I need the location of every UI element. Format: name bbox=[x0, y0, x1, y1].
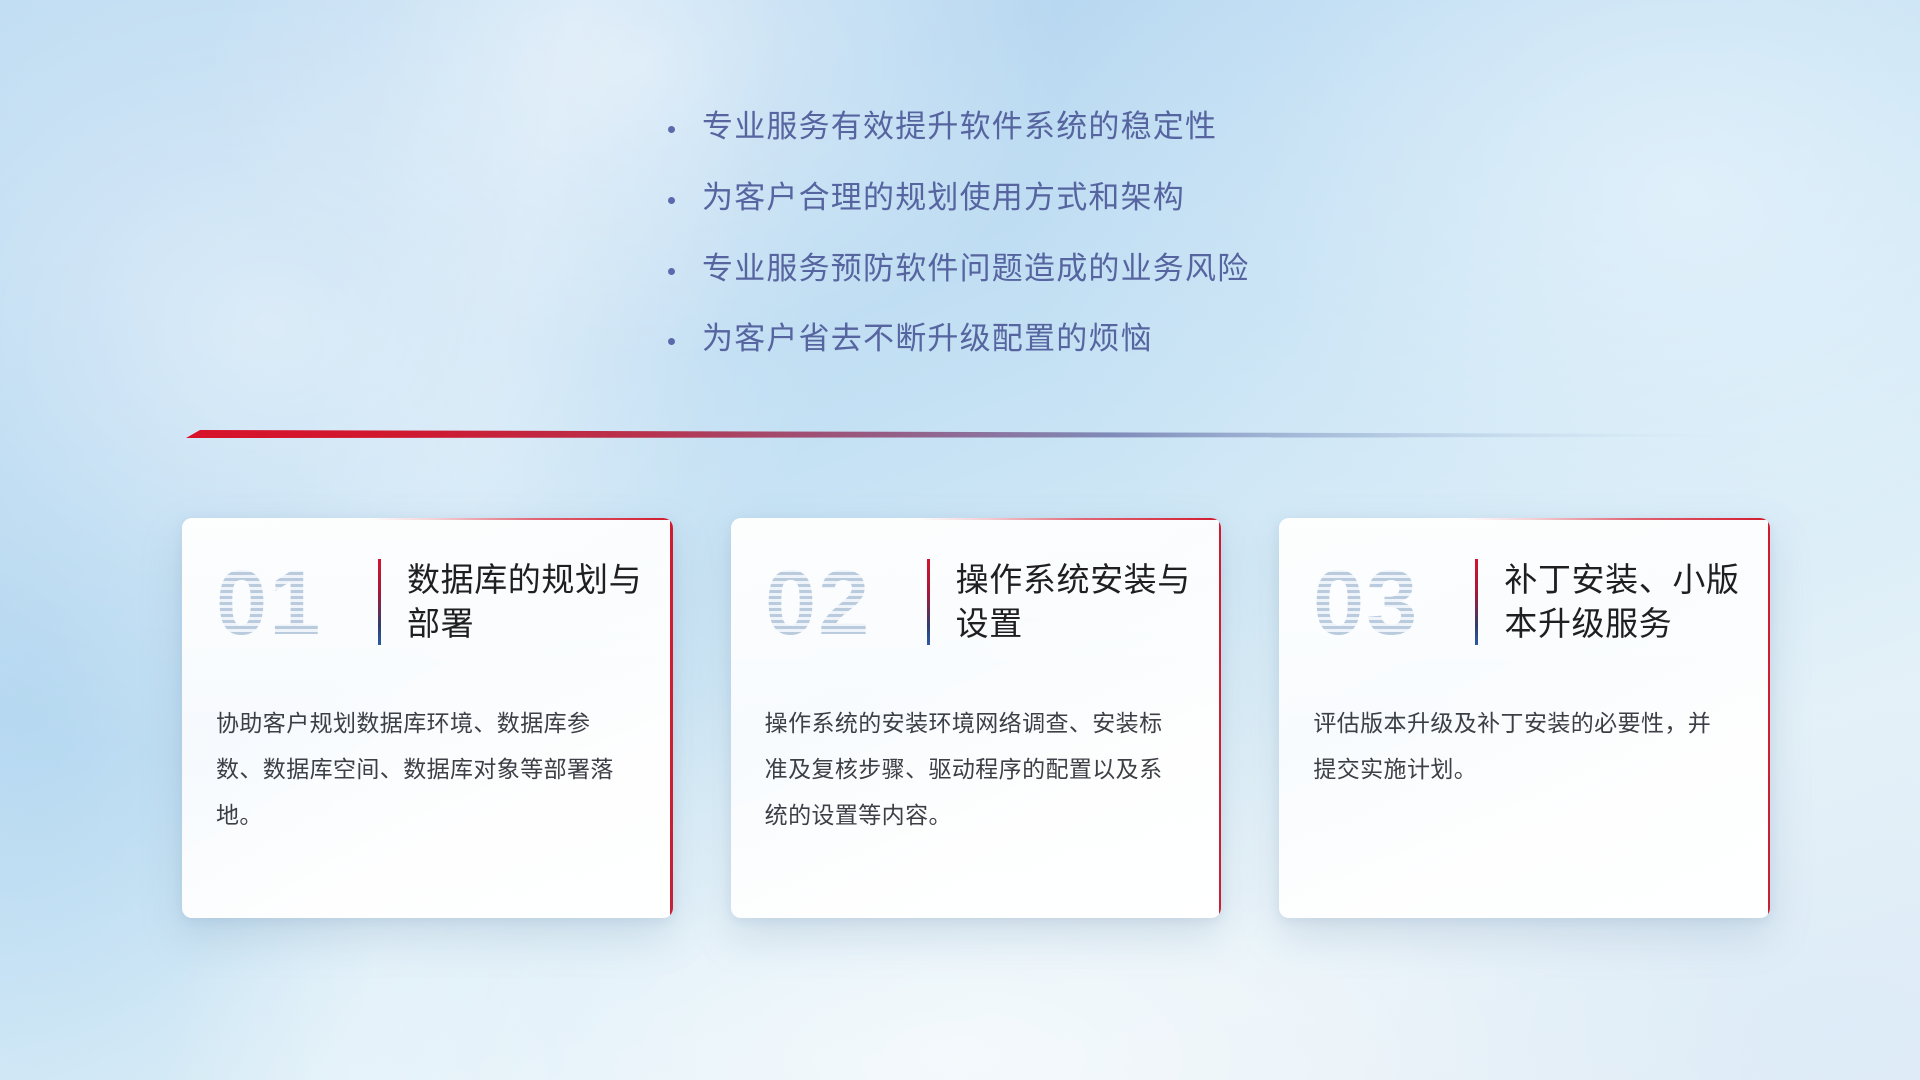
bullet-text: 专业服务有效提升软件系统的稳定性 bbox=[702, 108, 1217, 147]
list-item: 专业服务有效提升软件系统的稳定性 bbox=[668, 108, 1488, 147]
card-number-watermark: 02 bbox=[765, 554, 923, 650]
section-divider bbox=[186, 425, 1734, 451]
card-body-text: 评估版本升级及补丁安装的必要性，并提交实施计划。 bbox=[1279, 686, 1770, 792]
card-title-divider bbox=[1475, 559, 1478, 645]
card-title: 数据库的规划与部署 bbox=[407, 558, 673, 645]
list-item: 为客户省去不断升级配置的烦恼 bbox=[668, 320, 1488, 359]
service-card[interactable]: 03 补丁安装、小版本升级服务 评估版本升级及补丁安装的必要性，并提交实施计划。 bbox=[1279, 518, 1770, 918]
slide-root: 专业服务有效提升软件系统的稳定性 为客户合理的规划使用方式和架构 专业服务预防软… bbox=[0, 0, 1920, 1080]
card-title-divider bbox=[927, 559, 930, 645]
card-body-text: 操作系统的安装环境网络调查、安装标准及复核步骤、驱动程序的配置以及系统的设置等内… bbox=[731, 686, 1222, 838]
card-number-watermark: 03 bbox=[1313, 554, 1471, 650]
service-card-row: 01 数据库的规划与部署 协助客户规划数据库环境、数据库参数、数据库空间、数据库… bbox=[182, 518, 1770, 918]
bullet-dot-icon bbox=[668, 197, 702, 204]
bullet-dot-icon bbox=[668, 268, 702, 275]
card-number-glyph: 01 bbox=[216, 554, 322, 650]
card-header: 02 操作系统安装与设置 bbox=[731, 518, 1222, 686]
bullet-dot-icon bbox=[668, 338, 702, 345]
card-header: 03 补丁安装、小版本升级服务 bbox=[1279, 518, 1770, 686]
card-number-watermark: 01 bbox=[216, 554, 374, 650]
card-title-divider bbox=[378, 559, 381, 645]
bullet-text: 为客户合理的规划使用方式和架构 bbox=[702, 179, 1185, 218]
bullet-text: 为客户省去不断升级配置的烦恼 bbox=[702, 320, 1153, 359]
bullet-text: 专业服务预防软件问题造成的业务风险 bbox=[702, 250, 1249, 289]
card-title: 补丁安装、小版本升级服务 bbox=[1504, 558, 1770, 645]
card-title: 操作系统安装与设置 bbox=[956, 558, 1222, 645]
list-item: 为客户合理的规划使用方式和架构 bbox=[668, 179, 1488, 218]
card-number-glyph: 03 bbox=[1313, 554, 1419, 650]
benefits-bullet-list: 专业服务有效提升软件系统的稳定性 为客户合理的规划使用方式和架构 专业服务预防软… bbox=[668, 108, 1488, 391]
service-card[interactable]: 01 数据库的规划与部署 协助客户规划数据库环境、数据库参数、数据库空间、数据库… bbox=[182, 518, 673, 918]
bullet-dot-icon bbox=[668, 126, 702, 133]
service-card[interactable]: 02 操作系统安装与设置 操作系统的安装环境网络调查、安装标准及复核步骤、驱动程… bbox=[731, 518, 1222, 918]
card-body-text: 协助客户规划数据库环境、数据库参数、数据库空间、数据库对象等部署落地。 bbox=[182, 686, 673, 838]
list-item: 专业服务预防软件问题造成的业务风险 bbox=[668, 250, 1488, 289]
card-header: 01 数据库的规划与部署 bbox=[182, 518, 673, 686]
card-number-glyph: 02 bbox=[765, 554, 871, 650]
